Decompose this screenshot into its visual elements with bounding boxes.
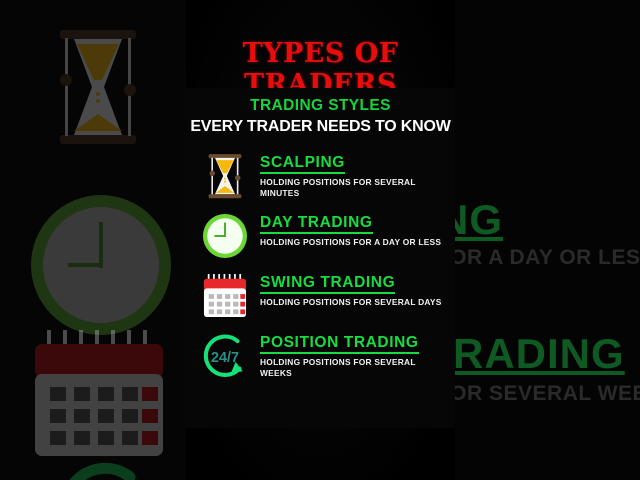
list-item-heading: POSITION TRADING	[260, 334, 419, 354]
background-left-column	[0, 0, 186, 480]
clock-icon	[200, 210, 250, 262]
list-item-text: SWING TRADING HOLDING POSITIONS FOR SEVE…	[250, 270, 447, 308]
background-ghost-desc-2: HOLDING POSITIONS FOR SEVERAL WEEKS	[455, 382, 640, 406]
list-item-day-trading[interactable]: DAY TRADING HOLDING POSITIONS FOR A DAY …	[186, 210, 455, 262]
list-item-swing-trading[interactable]: SWING TRADING HOLDING POSITIONS FOR SEVE…	[186, 270, 455, 322]
list-item-description: HOLDING POSITIONS FOR A DAY OR LESS	[260, 237, 445, 248]
background-hourglass-icon	[52, 28, 144, 146]
infographic-card: TYPES OF TRADERS TRADING STYLES EVERY TR…	[186, 0, 455, 480]
subtitle-secondary: EVERY TRADER NEEDS TO KNOW	[186, 118, 455, 136]
trading-styles-list: SCALPING HOLDING POSITIONS FOR SEVERAL M…	[186, 150, 455, 382]
twentyfour-seven-icon: 24/7	[200, 330, 250, 382]
hourglass-icon	[200, 150, 250, 202]
svg-text:24/7: 24/7	[211, 350, 239, 366]
card-inner: TYPES OF TRADERS TRADING STYLES EVERY TR…	[186, 0, 455, 480]
background-calendar-icon	[30, 330, 170, 460]
background-ghost-desc-1: HOLDING POSITIONS FOR A DAY OR LESS	[455, 246, 640, 270]
list-item-scalping[interactable]: SCALPING HOLDING POSITIONS FOR SEVERAL M…	[186, 150, 455, 202]
subtitle-primary: TRADING STYLES	[186, 97, 455, 115]
list-item-position-trading[interactable]: 24/7 POSITION TRADING HOLDING POSITIONS …	[186, 330, 455, 382]
list-item-heading: DAY TRADING	[260, 214, 373, 234]
list-item-description: HOLDING POSITIONS FOR SEVERAL MINUTES	[260, 177, 445, 199]
background-ghost-heading-1: DAY TRADING	[455, 196, 503, 244]
background-clock-icon	[28, 192, 174, 338]
list-item-text: DAY TRADING HOLDING POSITIONS FOR A DAY …	[250, 210, 447, 248]
list-item-description: HOLDING POSITIONS FOR SEVERAL DAYS	[260, 297, 445, 308]
list-item-text: POSITION TRADING HOLDING POSITIONS FOR S…	[250, 330, 447, 379]
background-ghost-heading-2: POSITION TRADING	[455, 330, 625, 378]
list-item-heading: SCALPING	[260, 154, 345, 174]
content-panel: TRADING STYLES EVERY TRADER NEEDS TO KNO…	[186, 88, 455, 428]
list-item-heading: SWING TRADING	[260, 274, 395, 294]
list-item-text: SCALPING HOLDING POSITIONS FOR SEVERAL M…	[250, 150, 447, 199]
background-twentyfour-seven-icon	[45, 455, 155, 480]
list-item-description: HOLDING POSITIONS FOR SEVERAL WEEKS	[260, 357, 445, 379]
subtitle-block: TRADING STYLES EVERY TRADER NEEDS TO KNO…	[186, 88, 455, 136]
background-right-column: DAY TRADING HOLDING POSITIONS FOR A DAY …	[455, 0, 640, 480]
calendar-icon	[200, 270, 250, 322]
